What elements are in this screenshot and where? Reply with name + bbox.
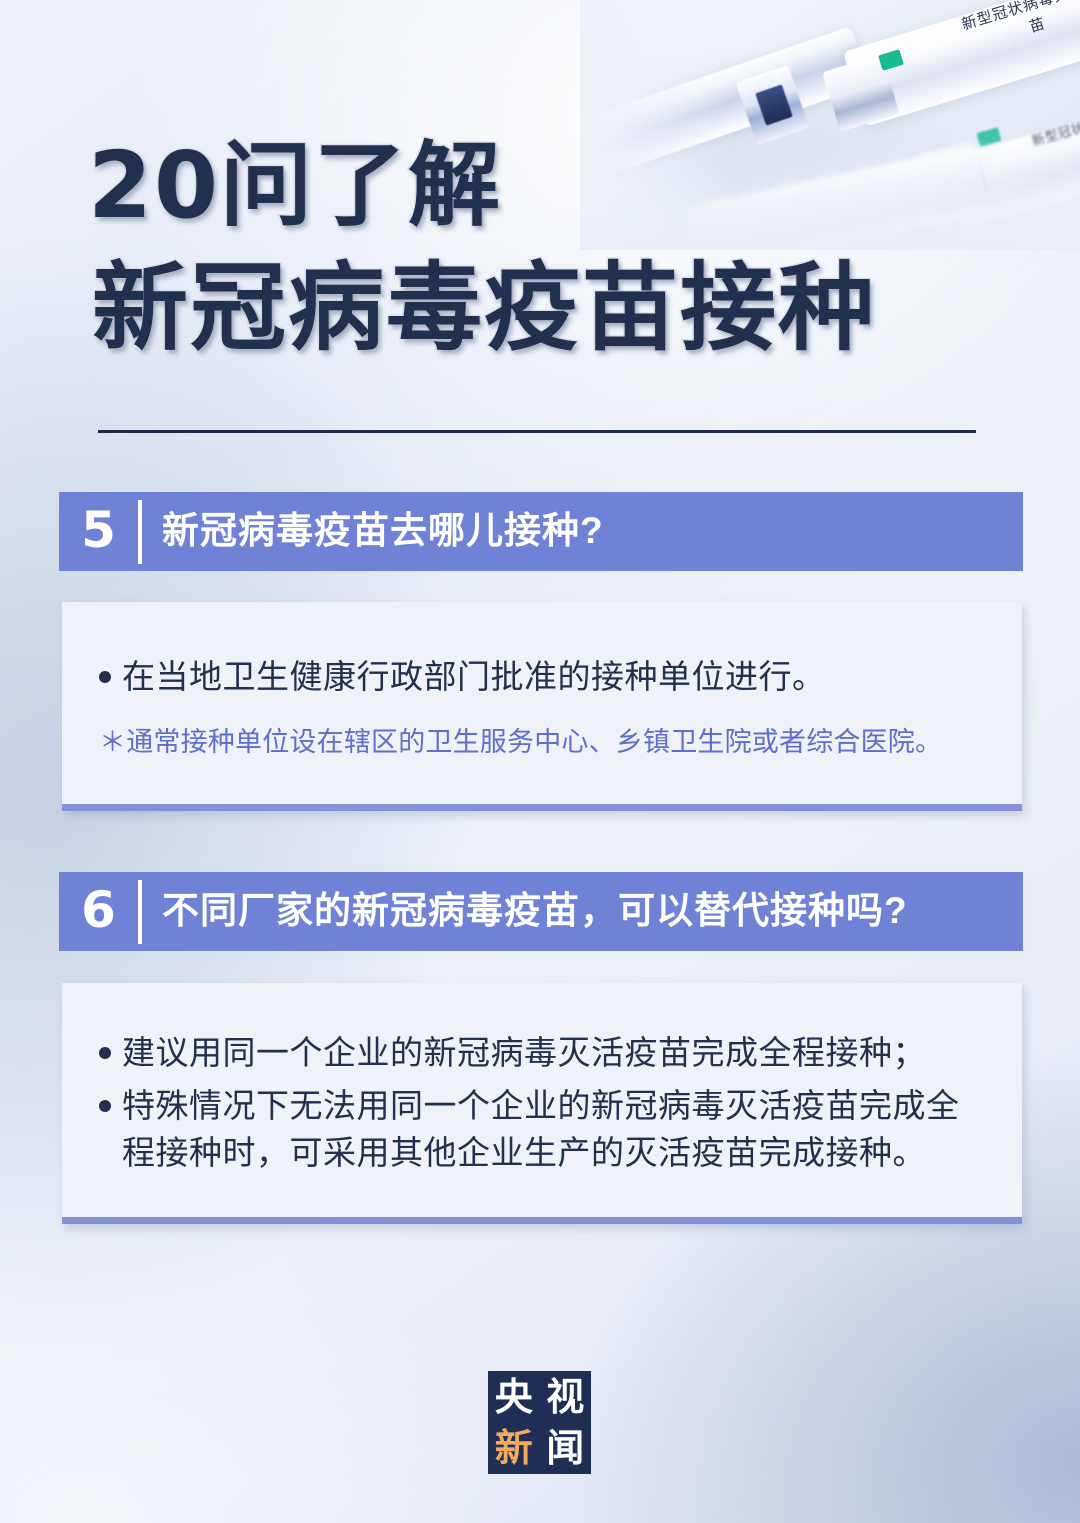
answer-bullet: 建议用同一个企业的新冠病毒灭活疫苗完成全程接种； [99,1030,992,1077]
question-header-5: 5 新冠病毒疫苗去哪儿接种? [59,492,1023,571]
bullet-dot-icon [99,671,111,683]
logo-char-wen: 闻 [546,1429,584,1467]
photo-bottom-fade [580,0,1080,250]
vaccine-photo: 新型冠状病毒灭活疫 苗 新型冠状病毒灭活疫 苗 [580,0,1080,250]
answer-bullet: 特殊情况下无法用同一个企业的新冠病毒灭活疫苗完成全程接种时，可采用其他企业生产的… [99,1083,992,1177]
bullet-dot-icon [99,1047,111,1059]
answer-bullet-text: 建议用同一个企业的新冠病毒灭活疫苗完成全程接种； [122,1030,992,1077]
logo-char-shi: 视 [546,1378,584,1416]
qa-block-5: 5 新冠病毒疫苗去哪儿接种? 在当地卫生健康行政部门批准的接种单位进行。 ＊通常… [0,492,1080,811]
title-line-2: 新冠病毒疫苗接种 [92,260,1000,356]
logo-char-xin: 新 [495,1429,533,1467]
question-number-6: 6 [59,885,138,939]
qa-block-6: 6 不同厂家的新冠病毒疫苗，可以替代接种吗? 建议用同一个企业的新冠病毒灭活疫苗… [0,872,1080,1224]
question-header-6: 6 不同厂家的新冠病毒疫苗，可以替代接种吗? [59,872,1023,951]
title-divider-rule [98,430,976,433]
question-number-5: 5 [59,505,138,559]
bullet-dot-icon [99,1100,111,1112]
question-text-5: 新冠病毒疫苗去哪儿接种? [142,512,1023,551]
answer-bullet-text: 在当地卫生健康行政部门批准的接种单位进行。 [122,654,994,701]
logo-char-yang: 央 [495,1378,533,1416]
answer-body-6: 建议用同一个企业的新冠病毒灭活疫苗完成全程接种； 特殊情况下无法用同一个企业的新… [62,983,1022,1224]
infographic-poster: 新型冠状病毒灭活疫 苗 新型冠状病毒灭活疫 苗 20问了解 新冠病毒疫苗接种 5… [0,0,1080,1523]
answer-bullet: 在当地卫生健康行政部门批准的接种单位进行。 [99,654,994,701]
cctv-news-logo: 央 视 新 闻 [488,1371,591,1474]
answer-body-5: 在当地卫生健康行政部门批准的接种单位进行。 ＊通常接种单位设在辖区的卫生服务中心… [62,602,1022,811]
question-text-6: 不同厂家的新冠病毒疫苗，可以替代接种吗? [142,892,1023,931]
answer-note-5: ＊通常接种单位设在辖区的卫生服务中心、乡镇卫生院或者综合医院。 [99,723,994,762]
answer-bullet-text: 特殊情况下无法用同一个企业的新冠病毒灭活疫苗完成全程接种时，可采用其他企业生产的… [122,1083,992,1177]
